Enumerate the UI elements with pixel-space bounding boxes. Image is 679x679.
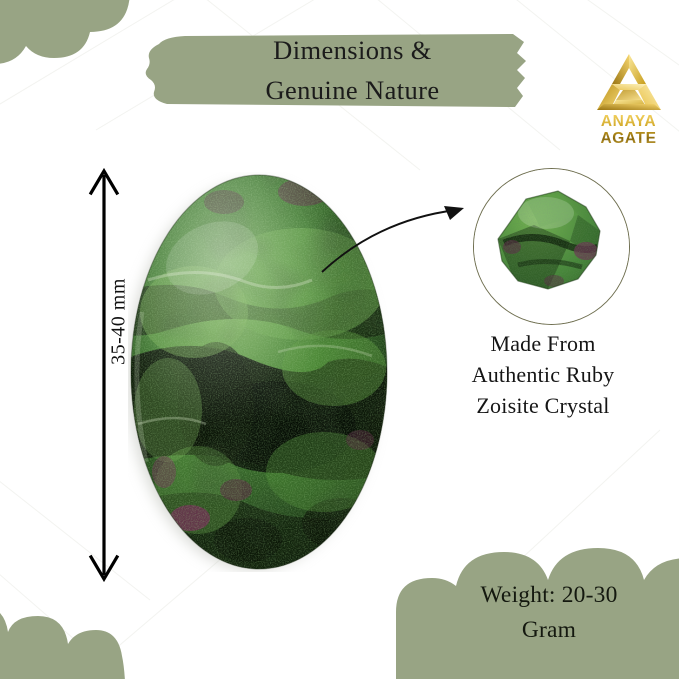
product-caption: Made From Authentic Ruby Zoisite Crystal [440, 328, 646, 422]
brand-line-2: AGATE [578, 131, 679, 148]
brand-wordmark: ANAYA AGATE [578, 114, 679, 147]
infographic-canvas: Dimensions & Genuine Nature [0, 0, 679, 679]
faceted-triangle-icon [594, 52, 664, 114]
cloud-bottom-left [0, 600, 144, 679]
weight-label: Weight: 20-30 Gram [424, 578, 674, 649]
weight-line-2: Gram [424, 613, 674, 648]
caption-line-3: Zoisite Crystal [440, 390, 646, 421]
weight-line-1: Weight: 20-30 [424, 578, 674, 613]
callout-arrow-icon [316, 190, 496, 280]
raw-crystal-inset [473, 168, 630, 325]
caption-line-1: Made From [440, 328, 646, 359]
caption-line-2: Authentic Ruby [440, 359, 646, 390]
header-title-line2: Genuine Nature [265, 71, 439, 110]
raw-crystal-image [474, 169, 629, 324]
cloud-top-left [0, 0, 130, 78]
brand-line-1: ANAYA [578, 114, 679, 131]
brand-logo: ANAYA AGATE [578, 52, 679, 157]
header-title: Dimensions & Genuine Nature [145, 28, 560, 113]
header-title-line1: Dimensions & [273, 31, 432, 70]
